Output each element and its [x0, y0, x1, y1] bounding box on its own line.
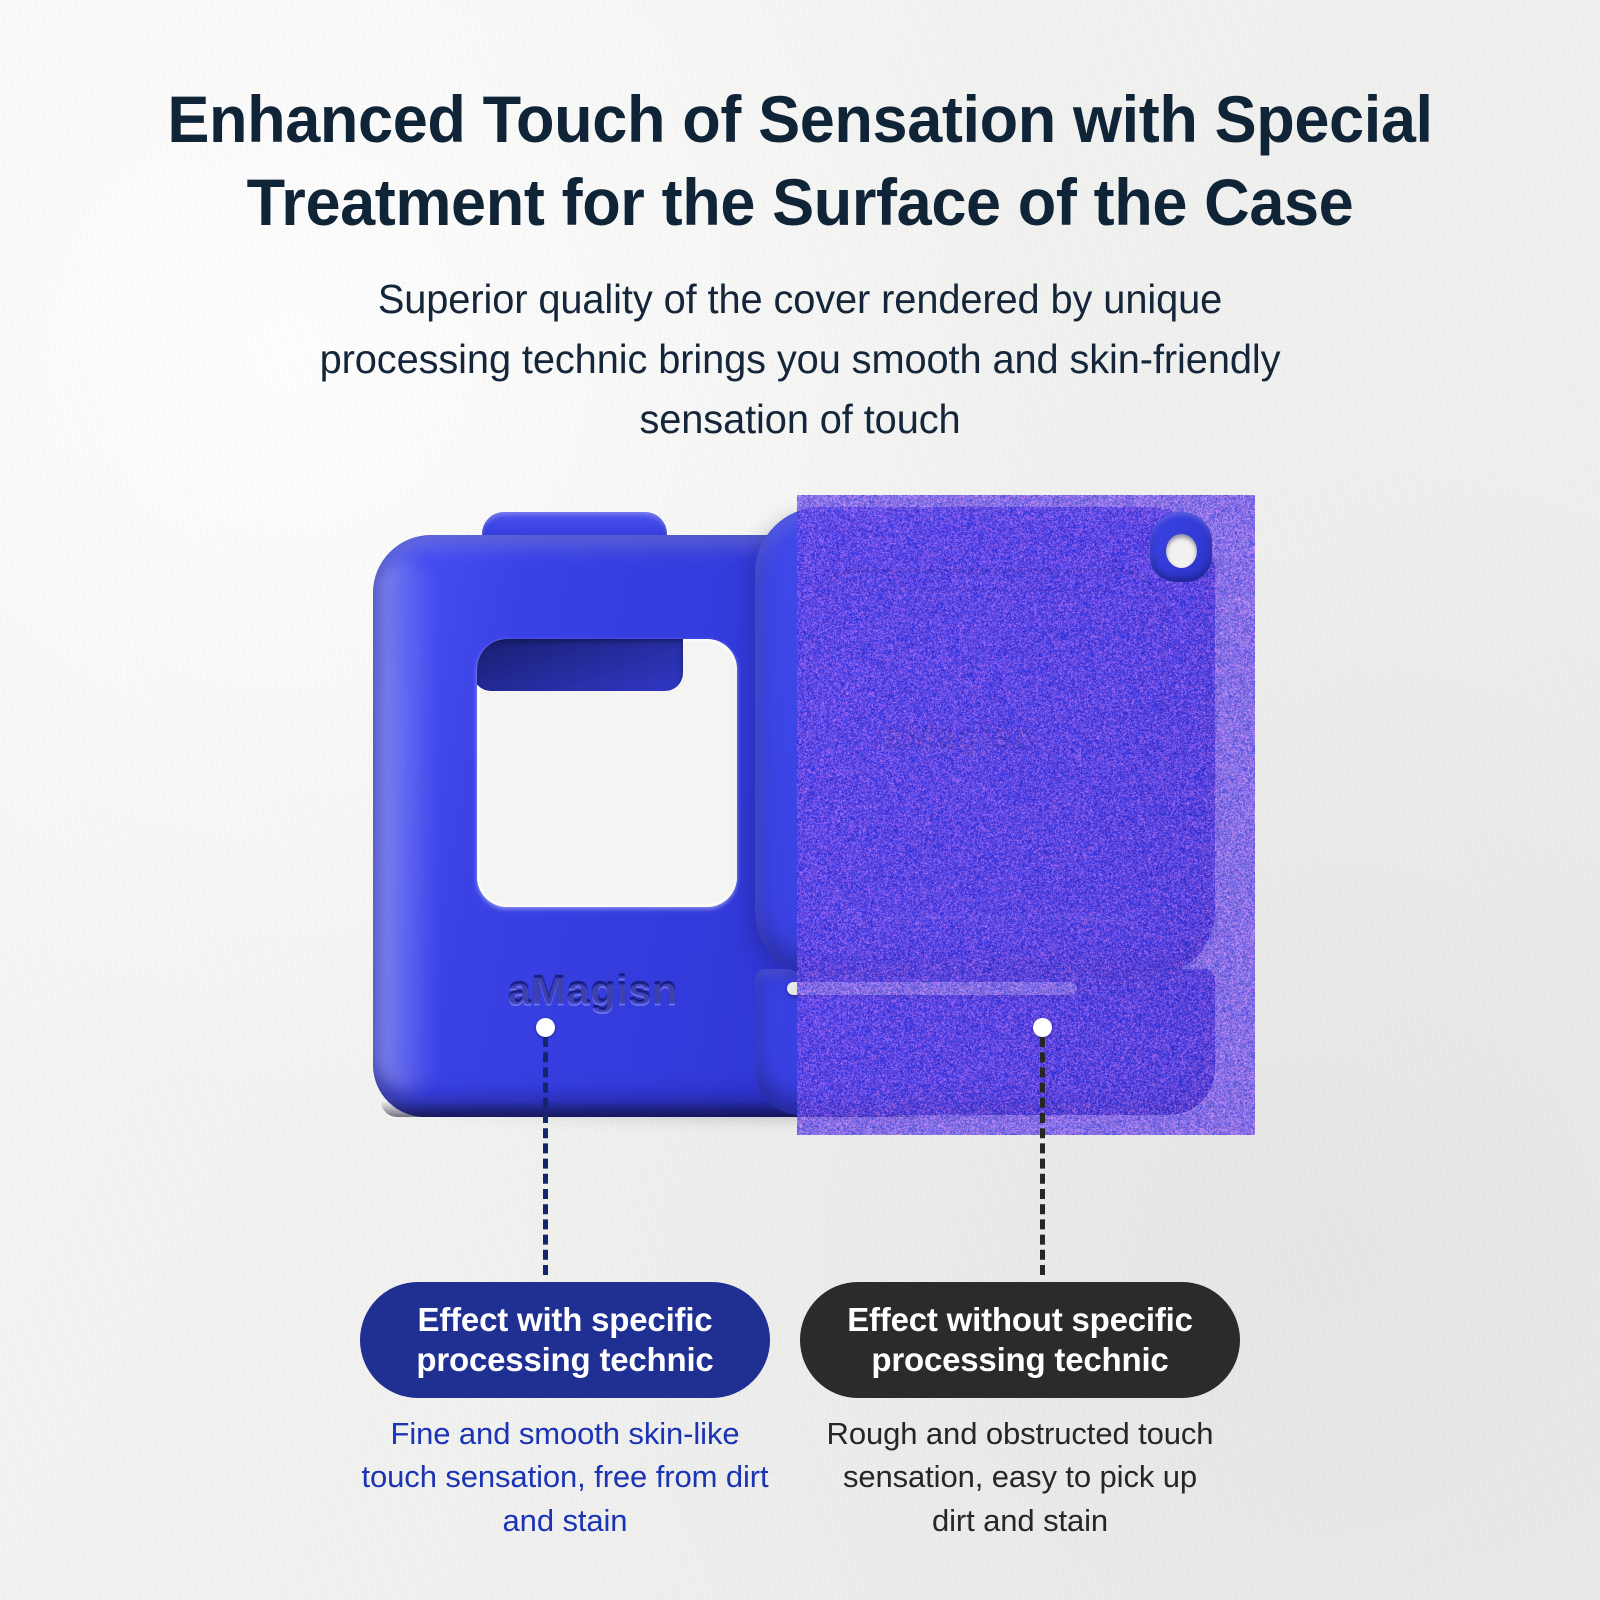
- callout-badge-with-treatment: Effect with specific processing technic: [360, 1282, 770, 1398]
- brand-emboss-case: aMagisn: [508, 969, 678, 1014]
- page-headline: Enhanced Touch of Sensation with Special…: [36, 78, 1564, 244]
- lanyard-loop: [1150, 512, 1212, 582]
- screen-cutout-inner-shadow: [477, 639, 683, 691]
- screen-cutout: [477, 639, 737, 907]
- callout-dot-left: [536, 1018, 555, 1037]
- product-illustration: aMagisn aMagisn: [355, 495, 1255, 1135]
- page-subheadline: Superior quality of the cover rendered b…: [24, 270, 1576, 450]
- callout-caption-without-treatment: Rough and obstructed touch sensation, ea…: [796, 1412, 1244, 1542]
- callout-leader-right: [1040, 1037, 1045, 1275]
- brand-emboss-cap: aMagisn: [883, 717, 1036, 759]
- callout-badge-without-treatment: Effect without specific processing techn…: [800, 1282, 1240, 1398]
- lanyard-loop-hole: [1166, 534, 1197, 568]
- lens-cap-gap-highlight: [787, 982, 1077, 995]
- product-feature-page: Enhanced Touch of Sensation with Special…: [0, 0, 1600, 1600]
- callout-dot-right: [1033, 1018, 1052, 1037]
- lens-cap: aMagisn: [755, 507, 1215, 977]
- callout-caption-with-treatment: Fine and smooth skin-like touch sensatio…: [336, 1412, 794, 1542]
- callout-leader-left: [543, 1037, 548, 1275]
